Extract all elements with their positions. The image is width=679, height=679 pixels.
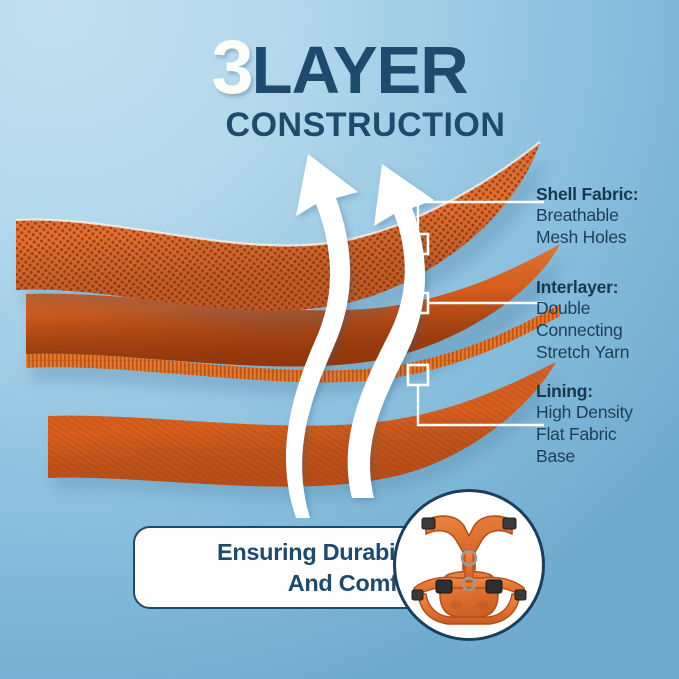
title-main-line: 3LAYER [0,30,679,106]
callout-lining: Lining: High Density Flat Fabric Base [536,381,633,467]
callout-lining-line-1: High Density [536,402,633,424]
callout-shell-fabric: Shell Fabric: Breathable Mesh Holes [536,184,638,249]
leader-line-lining [404,363,544,431]
leader-line-shell [404,196,544,252]
callout-interlayer-heading: Interlayer: [536,277,629,298]
callout-shell-line-1: Breathable [536,205,638,227]
callout-lining-line-3: Base [536,446,633,468]
leader-line-interlayer [404,292,544,318]
product-image-badge [393,489,545,641]
callout-lining-heading: Lining: [536,381,633,402]
callout-marker-square-lining [408,365,428,385]
dog-harness-icon [396,492,542,638]
title-number: 3 [211,25,251,110]
callout-interlayer-line-2: Connecting [536,320,629,342]
callout-interlayer-line-3: Stretch Yarn [536,342,629,364]
callout-shell-heading: Shell Fabric: [536,184,638,205]
infographic-canvas: 3LAYER CONSTRUCTION [0,0,679,679]
callout-interlayer: Interlayer: Double Connecting Stretch Ya… [536,277,629,363]
callout-lining-line-2: Flat Fabric [536,424,633,446]
callout-marker-square-interlayer [408,293,428,313]
title-word: LAYER [252,33,468,108]
callout-interlayer-line-1: Double [536,298,629,320]
callout-shell-line-2: Mesh Holes [536,227,638,249]
